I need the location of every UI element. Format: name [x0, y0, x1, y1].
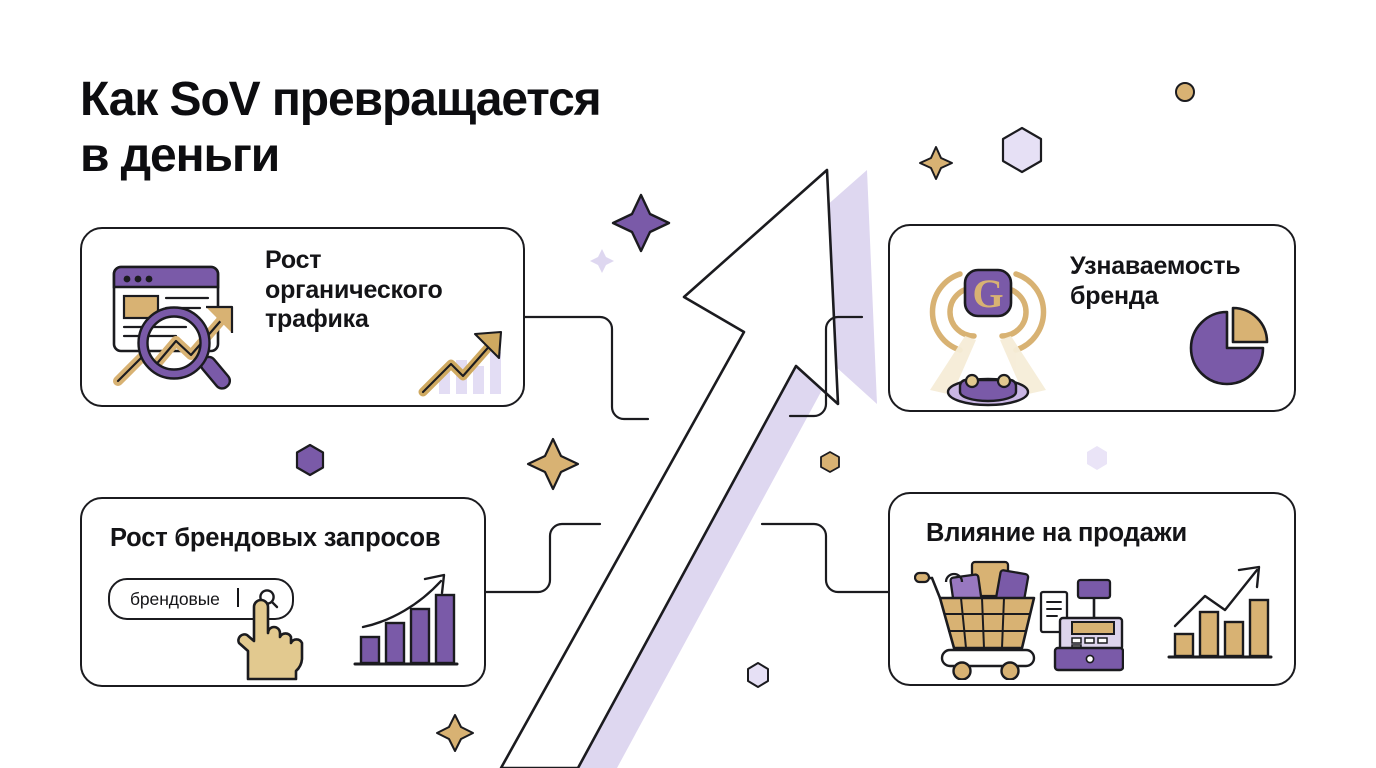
- hologram-projector-icon: G: [908, 244, 1068, 409]
- card-brand-queries[interactable]: Рост брендовых запросов брендовые: [80, 497, 486, 687]
- card-organic-traffic[interactable]: Рост органического трафика: [80, 227, 525, 407]
- purple-bar-chart-icon: [347, 565, 459, 675]
- growth-arrow-bars-icon: [413, 322, 513, 402]
- card-sales-impact-title: Влияние на продажи: [926, 518, 1187, 548]
- pointing-hand-icon: [225, 595, 305, 683]
- browser-magnifier-icon: [96, 255, 256, 395]
- card-sales-impact[interactable]: Влияние на продажи: [888, 492, 1296, 686]
- cards-layer: Рост органического трафика: [0, 0, 1376, 768]
- pie-chart-icon: [1186, 303, 1276, 393]
- infographic-canvas: Как SoV превращается в деньги Рост орган…: [0, 0, 1376, 768]
- brand-logo-letter: G: [972, 271, 1003, 316]
- gold-bar-chart-icon: [1163, 558, 1273, 668]
- shopping-cart-register-icon: [914, 552, 1124, 680]
- card-brand-awareness[interactable]: Узнаваемость бренда G: [888, 224, 1296, 412]
- card-brand-queries-title: Рост брендовых запросов: [110, 523, 440, 553]
- search-input-value: брендовые: [130, 589, 220, 610]
